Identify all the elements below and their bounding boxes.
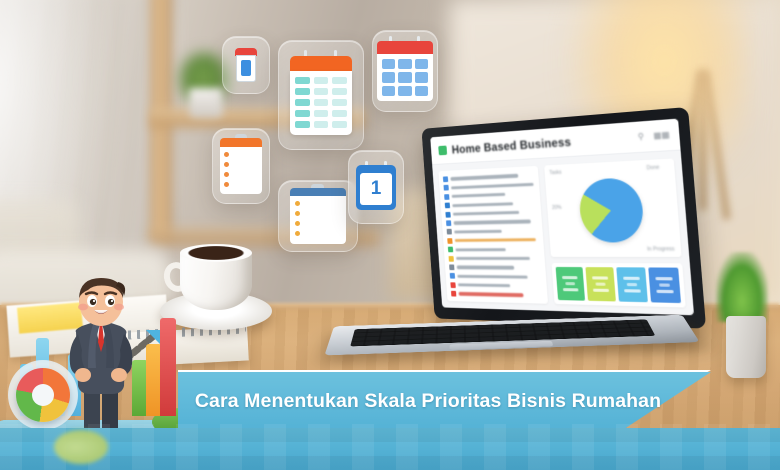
header-actions: ⚲ ▦▦ (637, 130, 669, 142)
list-item[interactable] (445, 200, 536, 209)
app-body: Tasks Done 20% In Progress (432, 151, 694, 316)
clipboard-checklist-orange-icon (220, 138, 262, 194)
grid-icon[interactable]: ▦▦ (653, 130, 670, 141)
calendar-red-grid-icon (377, 40, 433, 102)
leaf-decoration (54, 430, 108, 464)
list-item[interactable] (443, 172, 534, 182)
list-item[interactable] (447, 228, 538, 235)
laptop-screen[interactable]: Home Based Business ⚲ ▦▦ (430, 119, 694, 316)
banner-mosaic-overlay (0, 424, 780, 470)
pie-chart-card[interactable]: Tasks Done 20% In Progress (544, 158, 681, 256)
scene-root: 1 Home Based Business ⚲ ▦▦ (0, 0, 780, 470)
sidebar-list[interactable] (438, 166, 548, 304)
floating-card-house-calendar[interactable] (222, 36, 270, 94)
lamp-leg (700, 70, 706, 210)
app-logo-icon (438, 145, 447, 155)
list-item[interactable] (449, 264, 541, 270)
pie-legend-done: Done (646, 165, 659, 172)
shelf-pot (189, 88, 223, 118)
app-title: Home Based Business (451, 134, 571, 156)
list-item[interactable] (445, 209, 536, 217)
list-item[interactable] (446, 218, 537, 226)
coffee-surface (180, 244, 252, 262)
pie-chart (577, 177, 644, 243)
house-calendar-icon (235, 48, 257, 82)
status-tile[interactable] (616, 267, 648, 302)
search-icon[interactable]: ⚲ (637, 132, 644, 142)
bar-chart-bar (160, 318, 176, 416)
list-item[interactable] (450, 282, 542, 289)
list-item[interactable] (443, 181, 534, 191)
pie-legend-inprogress: In Progress (647, 246, 675, 252)
status-tile[interactable] (556, 267, 585, 301)
content-panel: Tasks Done 20% In Progress (544, 158, 686, 307)
plant-leaves (716, 252, 768, 322)
status-tile[interactable] (648, 267, 681, 303)
list-item[interactable] (450, 273, 542, 280)
plant-pot (726, 316, 766, 378)
laptop-base (324, 315, 699, 356)
status-tile[interactable] (585, 267, 616, 301)
list-item[interactable] (448, 255, 540, 261)
status-tiles-card[interactable] (552, 263, 686, 308)
list-item[interactable] (448, 246, 540, 252)
laptop: Home Based Business ⚲ ▦▦ (332, 118, 694, 358)
page-title: Cara Menentukan Skala Prioritas Bisnis R… (178, 386, 678, 416)
list-item[interactable] (451, 291, 543, 299)
floating-card-clipboard-orange[interactable] (212, 128, 270, 204)
list-item[interactable] (447, 237, 539, 244)
list-item[interactable] (444, 191, 535, 200)
floating-card-calendar-red[interactable] (372, 30, 438, 112)
pie-legend-percent: 20% (552, 205, 562, 211)
